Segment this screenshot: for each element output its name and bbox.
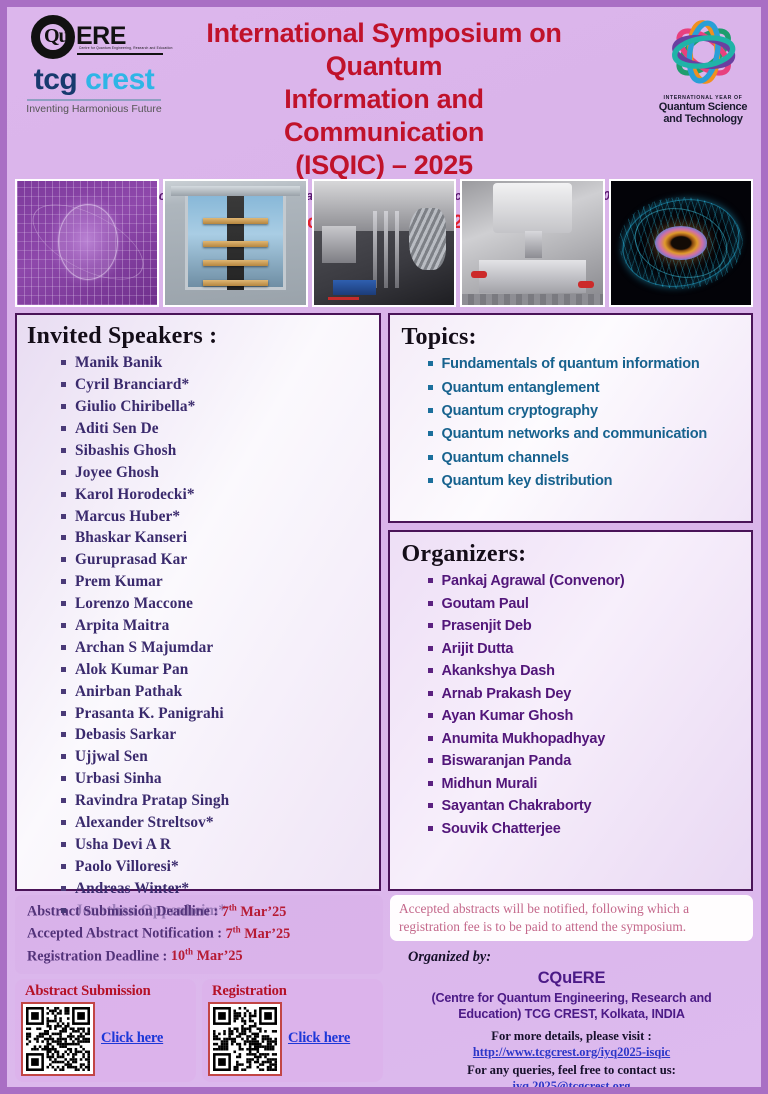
invited-speakers-title: Invited Speakers : — [27, 323, 369, 350]
bullet-square-icon — [61, 732, 66, 737]
speaker-item-label: Lorenzo Maccone — [75, 596, 193, 611]
tcg-crest-logo: tcg crest Inventing Harmonious Future — [19, 65, 169, 115]
speaker-item: Prem Kumar — [27, 571, 369, 593]
organizer-item: Sayantan Chakraborty — [402, 795, 740, 818]
poster-body: Invited Speakers : Manik BanikCyril Bran… — [7, 307, 761, 891]
speaker-item-label: Anirban Pathak — [75, 684, 182, 699]
organizer-item: Midhun Murali — [402, 773, 740, 796]
organizer-item-label: Ayan Kumar Ghosh — [442, 709, 574, 724]
optical-post — [384, 211, 388, 288]
speaker-item-label: Bhaskar Kanseri — [75, 530, 187, 545]
bullet-square-icon — [428, 385, 433, 390]
microscope-setup-photo — [460, 179, 604, 307]
bullet-square-icon — [61, 426, 66, 431]
topic-item: Fundamentals of quantum information — [402, 353, 740, 376]
torus-core — [655, 226, 707, 260]
bullet-square-icon — [428, 646, 433, 651]
organizers-list: Pankaj Agrawal (Convenor)Goutam PaulPras… — [402, 570, 740, 840]
blue-optics-mount — [333, 280, 375, 295]
organizer-item-label: Arnab Prakash Dey — [442, 687, 572, 702]
invited-speakers-list: Manik BanikCyril Branciard*Giulio Chirib… — [27, 352, 369, 921]
bullet-square-icon — [428, 455, 433, 460]
speaker-item-label: Usha Devi A R — [75, 837, 171, 852]
bullet-square-icon — [61, 360, 66, 365]
queries-label: For any queries, feel free to contact us… — [390, 1063, 753, 1078]
optical-table — [462, 294, 602, 305]
click-here-link[interactable]: Click here — [101, 1030, 163, 1047]
speaker-item-label: Ujjwal Sen — [75, 749, 148, 764]
bullet-square-icon — [428, 601, 433, 606]
cquere-inner-letters: Qu — [44, 25, 69, 48]
poster-header: Qu ERE Centre for Quantum Engineering, R… — [7, 7, 761, 179]
bullet-square-icon — [428, 826, 433, 831]
speaker-item-label: Sibashis Ghosh — [75, 443, 176, 458]
bullet-square-icon — [61, 864, 66, 869]
topic-item-label: Quantum networks and communication — [442, 427, 708, 442]
speaker-item-label: Alexander Streltsov* — [75, 815, 214, 830]
organizer-item: Akankshya Dash — [402, 660, 740, 683]
speaker-item: Marcus Huber* — [27, 505, 369, 527]
organizer-item: Souvik Chatterjee — [402, 818, 740, 841]
right-column: Topics: Fundamentals of quantum informat… — [388, 313, 754, 891]
deadline-label: Registration Deadline : — [27, 948, 171, 964]
left-column: Invited Speakers : Manik BanikCyril Bran… — [15, 313, 381, 891]
bullet-square-icon — [61, 382, 66, 387]
speaker-item: Anirban Pathak — [27, 680, 369, 702]
topic-item-label: Fundamentals of quantum information — [442, 357, 700, 372]
bullet-square-icon — [61, 448, 66, 453]
bullet-square-icon — [61, 886, 66, 891]
deadline-label: Accepted Abstract Notification : — [27, 926, 226, 942]
topics-title: Topics: — [402, 324, 740, 351]
bullet-square-icon — [61, 842, 66, 847]
qr-card: Abstract SubmissionClick here — [15, 979, 196, 1082]
bullet-square-icon — [61, 689, 66, 694]
bullet-square-icon — [428, 478, 433, 483]
speaker-item: Cyril Branciard* — [27, 374, 369, 396]
bullet-square-icon — [428, 781, 433, 786]
qr-card-heading: Registration — [208, 983, 377, 1000]
organizer-item-label: Sayantan Chakraborty — [442, 799, 592, 814]
speaker-item: Lorenzo Maccone — [27, 593, 369, 615]
bullet-square-icon — [428, 713, 433, 718]
qr-card-heading: Abstract Submission — [21, 983, 190, 1000]
topic-item-label: Quantum entanglement — [442, 381, 600, 396]
organizer-item-label: Souvik Chatterjee — [442, 822, 561, 837]
conference-poster: Qu ERE Centre for Quantum Engineering, R… — [0, 0, 768, 1094]
speaker-item: Debasis Sarkar — [27, 724, 369, 746]
organizer-item: Biswaranjan Panda — [402, 750, 740, 773]
speaker-item-label: Andreas Winter* — [75, 881, 189, 896]
organizer-item-label: Anumita Mukhopadhyay — [442, 732, 606, 747]
fridge-plate — [203, 280, 268, 286]
dilution-refrigerator-photo — [163, 179, 307, 307]
organizer-item: Prasenjit Deb — [402, 615, 740, 638]
speaker-item-label: Urbasi Sinha — [75, 771, 162, 786]
organizer-item-label: Prasenjit Deb — [442, 619, 532, 634]
bullet-square-icon — [428, 361, 433, 366]
speaker-item: Archan S Majumdar — [27, 637, 369, 659]
speaker-item-label: Ravindra Pratap Singh — [75, 793, 229, 808]
iyq-rings-icon — [655, 15, 752, 89]
speaker-item-label: Prasanta K. Panigrahi — [75, 706, 224, 721]
speaker-item-label: Giulio Chiribella* — [75, 399, 195, 414]
email-link[interactable]: iyq.2025@tcgcrest.org — [390, 1079, 753, 1094]
bullet-square-icon — [61, 754, 66, 759]
bullet-square-icon — [61, 623, 66, 628]
speaker-item: Arpita Maitra — [27, 615, 369, 637]
poster-footer: Abstract Submission Deadline : 7th Mar’2… — [7, 891, 761, 1094]
organizer-item: Arijit Dutta — [402, 638, 740, 661]
topics-panel: Topics: Fundamentals of quantum informat… — [388, 313, 754, 523]
speaker-item-label: Marcus Huber* — [75, 509, 180, 524]
speaker-item-label: Paolo Villoresi* — [75, 859, 179, 874]
speaker-item: Giulio Chiribella* — [27, 396, 369, 418]
optical-post — [373, 211, 377, 288]
bullet-square-icon — [428, 578, 433, 583]
speaker-item-label: Aditi Sen De — [75, 421, 159, 436]
speaker-item: Aditi Sen De — [27, 418, 369, 440]
microscope-head — [493, 183, 572, 233]
footer-right: Accepted abstracts will be notified, fol… — [390, 895, 753, 1094]
organizer-item-label: Arijit Dutta — [442, 642, 514, 657]
organizer-full-line-1: (Centre for Quantum Engineering, Researc… — [404, 990, 739, 1006]
bullet-square-icon — [61, 535, 66, 540]
bullet-square-icon — [428, 408, 433, 413]
topic-item: Quantum networks and communication — [402, 423, 740, 446]
cquere-logo-mark: Qu ERE Centre for Quantum Engineering, R… — [19, 13, 169, 61]
organizer-name: CQuERE — [390, 969, 753, 988]
speaker-item: Manik Banik — [27, 352, 369, 374]
topics-list: Fundamentals of quantum informationQuant… — [402, 353, 740, 493]
organizer-item: Ayan Kumar Ghosh — [402, 705, 740, 728]
speaker-item-label: Arpita Maitra — [75, 618, 169, 633]
deadline-row: Accepted Abstract Notification : 7th Mar… — [27, 923, 375, 945]
organizer-item: Arnab Prakash Dey — [402, 683, 740, 706]
deadline-row: Registration Deadline : 10th Mar’25 — [27, 946, 375, 968]
bullet-square-icon — [61, 908, 66, 913]
deadline-label: Abstract Submission Deadline : — [27, 904, 222, 920]
bullet-square-icon — [61, 404, 66, 409]
organizer-item-label: Goutam Paul — [442, 597, 529, 612]
bullet-square-icon — [61, 557, 66, 562]
fridge-plate — [203, 218, 268, 224]
speaker-item: Usha Devi A R — [27, 834, 369, 856]
microscope-stage — [479, 260, 586, 292]
red-cable — [328, 297, 359, 300]
topic-item: Quantum cryptography — [402, 400, 740, 423]
red-connector — [578, 281, 594, 288]
topic-item: Quantum entanglement — [402, 376, 740, 399]
speaker-item: Prasanta K. Panigrahi — [27, 702, 369, 724]
bullet-square-icon — [428, 691, 433, 696]
speaker-item-label: Joyee Ghosh — [75, 465, 159, 480]
speaker-item: Joyee Ghosh — [27, 461, 369, 483]
organizer-item-label: Akankshya Dash — [442, 664, 555, 679]
bullet-square-icon — [428, 803, 433, 808]
speaker-item: Karol Horodecki* — [27, 483, 369, 505]
fridge-plate — [203, 260, 268, 266]
quantum-sphere-illustration — [15, 179, 159, 307]
speaker-item-label: Prem Kumar — [75, 574, 163, 589]
organizers-title: Organizers: — [402, 541, 740, 568]
cquere-tcgcrest-logo: Qu ERE Centre for Quantum Engineering, R… — [19, 13, 169, 115]
speaker-item: Alexander Streltsov* — [27, 812, 369, 834]
bullet-square-icon — [61, 601, 66, 606]
bullet-square-icon — [61, 820, 66, 825]
organizer-item: Anumita Mukhopadhyay — [402, 728, 740, 751]
bullet-square-icon — [61, 579, 66, 584]
deadline-date: 10th Mar’25 — [171, 948, 243, 964]
qr-card-body: Click here — [21, 1002, 190, 1076]
bullet-square-icon — [428, 736, 433, 741]
red-connector — [471, 271, 487, 278]
deadlines-box: Abstract Submission Deadline : 7th Mar’2… — [15, 895, 383, 974]
title-line-1: International Symposium on Quantum — [182, 17, 586, 83]
speaker-item-label: Debasis Sarkar — [75, 727, 176, 742]
bullet-square-icon — [61, 492, 66, 497]
bullet-square-icon — [428, 668, 433, 673]
organizers-panel: Organizers: Pankaj Agrawal (Convenor)Gou… — [388, 530, 754, 891]
cquere-underline — [77, 53, 163, 55]
speaker-item: Urbasi Sinha — [27, 768, 369, 790]
topic-item: Quantum key distribution — [402, 469, 740, 492]
topic-item: Quantum channels — [402, 446, 740, 469]
iyq-title: Quantum Science and Technology — [655, 101, 751, 126]
bullet-square-icon — [61, 776, 66, 781]
foil-wrap — [409, 208, 446, 270]
speaker-item: Paolo Villoresi* — [27, 855, 369, 877]
iyq-logo: INTERNATIONAL YEAR OF Quantum Science an… — [655, 15, 751, 126]
speaker-item: Ujjwal Sen — [27, 746, 369, 768]
tcg-text: tcg — [34, 63, 78, 96]
speaker-item-label: Manik Banik — [75, 355, 162, 370]
optical-post — [395, 211, 399, 288]
topic-item-label: Quantum cryptography — [442, 404, 598, 419]
qr-code-icon[interactable] — [21, 1002, 95, 1076]
qr-cards: Abstract SubmissionClick hereRegistratio… — [15, 979, 383, 1082]
visit-label: For more details, please visit : — [390, 1029, 753, 1044]
qr-card-body: Click here — [208, 1002, 377, 1076]
bullet-square-icon — [61, 667, 66, 672]
organizer-item: Pankaj Agrawal (Convenor) — [402, 570, 740, 593]
tcg-tagline: Inventing Harmonious Future — [19, 103, 169, 115]
speaker-item-label: Archan S Majumdar — [75, 640, 213, 655]
bullet-square-icon — [61, 470, 66, 475]
iyq-title-line-2: and Technology — [655, 113, 751, 125]
title-line-2: Information and Communication — [182, 83, 586, 149]
topic-item-label: Quantum key distribution — [442, 474, 613, 489]
bullet-square-icon — [428, 431, 433, 436]
bullet-square-icon — [61, 711, 66, 716]
optics-laboratory-photo — [312, 179, 456, 307]
bullet-square-icon — [61, 645, 66, 650]
organizer-item-label: Pankaj Agrawal (Convenor) — [442, 574, 625, 589]
notice-box: Accepted abstracts will be notified, fol… — [390, 895, 753, 941]
invited-speakers-panel: Invited Speakers : Manik BanikCyril Bran… — [15, 313, 381, 891]
bullet-square-icon — [428, 758, 433, 763]
cquere-micro-caption: Centre for Quantum Engineering, Research… — [79, 46, 173, 50]
deadline-date: 7th Mar’25 — [222, 904, 287, 920]
tcg-divider — [27, 99, 161, 101]
speaker-item-label: Cyril Branciard* — [75, 377, 189, 392]
speaker-item-label: Guruprasad Kar — [75, 552, 187, 567]
speaker-item: Ravindra Pratap Singh — [27, 790, 369, 812]
qr-code-icon[interactable] — [208, 1002, 282, 1076]
organizer-item-label: Biswaranjan Panda — [442, 754, 572, 769]
microscope-lens — [525, 231, 542, 258]
title-line-3: (ISQIC) – 2025 — [182, 149, 586, 182]
bullet-square-icon — [61, 514, 66, 519]
bullet-square-icon — [428, 623, 433, 628]
deadline-row: Abstract Submission Deadline : 7th Mar’2… — [27, 901, 375, 923]
organizer-full-name: (Centre for Quantum Engineering, Researc… — [390, 988, 753, 1022]
speaker-item: Alok Kumar Pan — [27, 658, 369, 680]
click-here-link[interactable]: Click here — [288, 1030, 350, 1047]
qr-card: RegistrationClick here — [202, 979, 383, 1082]
bullet-square-icon — [61, 798, 66, 803]
speaker-item: Bhaskar Kanseri — [27, 527, 369, 549]
speaker-item: Sibashis Ghosh — [27, 440, 369, 462]
equipment-rack — [322, 226, 356, 263]
footer-left: Abstract Submission Deadline : 7th Mar’2… — [15, 895, 383, 1094]
topic-item-label: Quantum channels — [442, 451, 569, 466]
organizer-full-line-2: Education) TCG CREST, Kolkata, INDIA — [404, 1006, 739, 1022]
website-link[interactable]: http://www.tcgcrest.org/iyq2025-isqic — [390, 1045, 753, 1060]
torus-knot-visualization — [609, 179, 753, 307]
organizer-item: Goutam Paul — [402, 593, 740, 616]
organizer-item-label: Midhun Murali — [442, 777, 538, 792]
tcg-crest-wordmark: tcg crest — [19, 65, 169, 95]
speaker-item-label: Alok Kumar Pan — [75, 662, 188, 677]
frame-beam — [171, 186, 300, 196]
fridge-plate — [203, 241, 268, 247]
deadline-date: 7th Mar’25 — [226, 926, 291, 942]
speaker-item-label: Karol Horodecki* — [75, 487, 195, 502]
speaker-item: Guruprasad Kar — [27, 549, 369, 571]
iyq-title-line-1: Quantum Science — [655, 101, 751, 113]
organized-by-label: Organized by: — [390, 949, 753, 966]
crest-text: crest — [85, 63, 154, 96]
image-strip — [7, 179, 761, 307]
